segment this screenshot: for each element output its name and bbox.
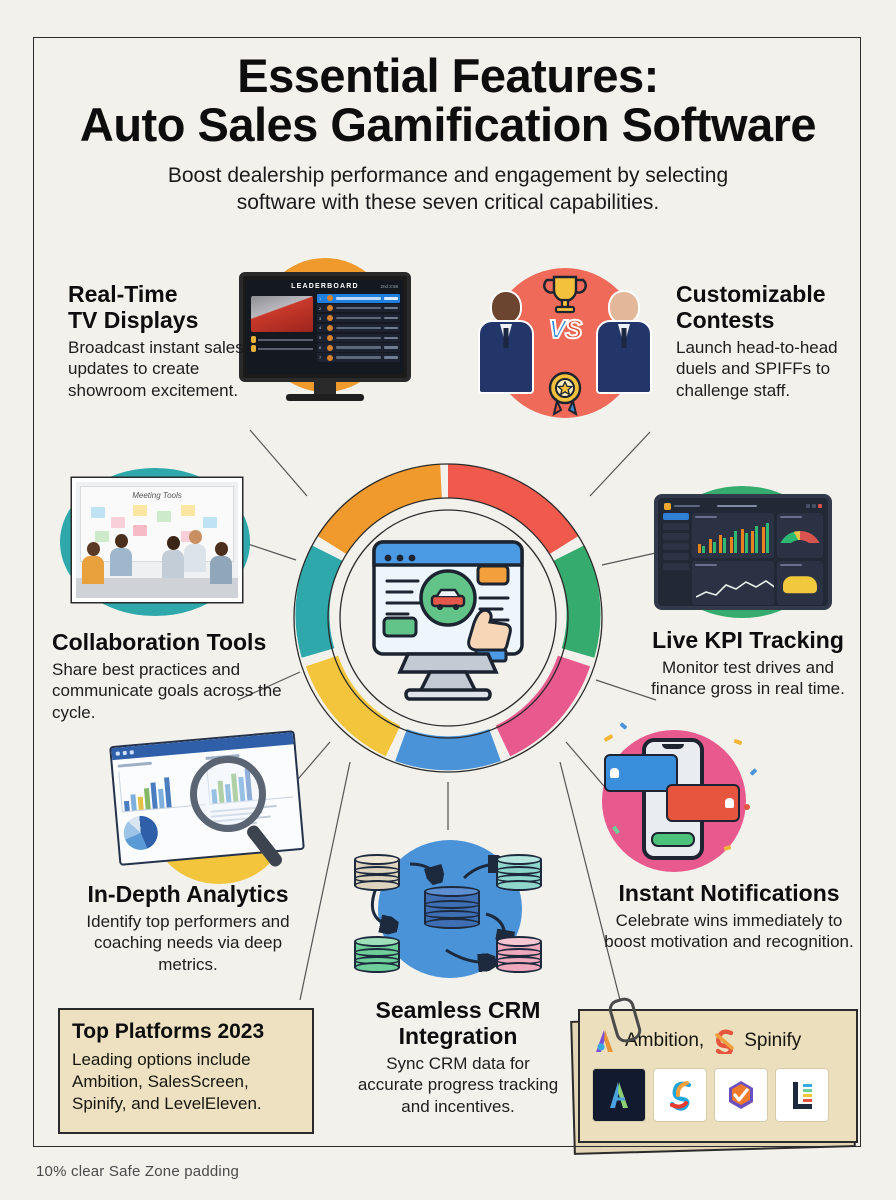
card-body-line3: Spinify, and LevelEleven. <box>72 1093 300 1115</box>
illustration-head-to-head-contest: VS <box>474 258 656 433</box>
feature-title: In-Depth Analytics <box>62 881 314 907</box>
subtitle-line1: Boost dealership performance and engagem… <box>0 162 896 190</box>
tv-car-photo <box>251 296 313 332</box>
contest-competitor-right <box>596 290 652 400</box>
feature-in-depth-analytics: In-Depth Analytics Identify top performe… <box>62 881 314 975</box>
logo-tile-row <box>592 1068 844 1122</box>
top-platforms-card: Top Platforms 2023 Leading options inclu… <box>58 1008 314 1134</box>
capability-ring <box>288 458 608 778</box>
platform-logos-card: Ambition, Spinify <box>578 1009 858 1143</box>
illustration-team-whiteboard: Meeting Tools <box>58 462 254 622</box>
safe-zone-note: 10% clear Safe Zone padding <box>36 1163 239 1180</box>
feature-description: Broadcast instant sales updates to creat… <box>68 337 258 401</box>
feature-title-line2: TV Displays <box>68 307 258 333</box>
ambition-logo-icon <box>592 1028 618 1054</box>
tv-leaderboard-title: LEADERBOARD <box>291 283 359 290</box>
feature-description: Monitor test drives and finance gross in… <box>640 657 856 700</box>
feature-live-kpi-tracking: Live KPI Tracking Monitor test drives an… <box>640 627 856 700</box>
illustration-crm-database-hub <box>336 826 564 992</box>
card-body-line1: Leading options include <box>72 1049 300 1071</box>
card-body-line2: Ambition, SalesScreen, <box>72 1071 300 1093</box>
header: Essential Features: Auto Sales Gamificat… <box>0 52 896 217</box>
whiteboard-title: Meeting Tools <box>132 491 182 500</box>
versus-s-glyph: S <box>565 314 581 344</box>
feature-real-time-tv-displays: Real-Time TV Displays Broadcast instant … <box>68 281 258 401</box>
kpi-line-chart <box>692 561 774 606</box>
kpi-gauge <box>777 513 823 558</box>
feature-instant-notifications: Instant Notifications Celebrate wins imm… <box>600 880 858 953</box>
feature-description: Celebrate wins immediately to boost moti… <box>600 910 858 953</box>
bell-icon <box>610 768 619 778</box>
tv-leaderboard-rows: 1 2 3 4 5 6 7 <box>317 294 400 363</box>
spinify-logo-icon <box>711 1028 737 1054</box>
page-title-line1: Essential Features: <box>0 52 896 101</box>
logo-tile-leveleleven <box>775 1068 829 1122</box>
feature-seamless-crm-integration: Seamless CRM Integration Sync CRM data f… <box>352 997 564 1117</box>
magnifier-icon <box>190 756 266 832</box>
feature-collaboration-tools: Collaboration Tools Share best practices… <box>52 629 322 723</box>
logo-tile-spinify <box>714 1068 768 1122</box>
logo-tile-ambition <box>592 1068 646 1122</box>
monitor-car-search-icon <box>374 542 522 699</box>
database-node-beige <box>354 854 400 892</box>
feature-title: Collaboration Tools <box>52 629 322 655</box>
feature-title-line1: Real-Time <box>68 281 258 307</box>
bell-icon <box>725 798 734 808</box>
feature-title-line2: Integration <box>352 1023 564 1049</box>
card-title: Top Platforms 2023 <box>72 1020 300 1044</box>
notification-bubble-red <box>666 784 740 822</box>
feature-description: Launch head-to-head duels and SPIFFs to … <box>676 337 856 401</box>
database-node-pink <box>496 936 542 974</box>
contest-competitor-left <box>478 290 534 400</box>
illustration-phone-notifications <box>594 718 770 880</box>
feature-title-line1: Seamless CRM <box>352 997 564 1023</box>
database-node-teal <box>496 854 542 892</box>
trophy-icon <box>542 274 588 314</box>
feature-title: Live KPI Tracking <box>640 627 856 653</box>
kpi-bar-chart <box>692 513 774 558</box>
feature-description: Share best practices and communicate goa… <box>52 659 322 723</box>
subtitle-line2: software with these seven critical capab… <box>0 189 896 217</box>
illustration-tv-leaderboard: LEADERBOARD 2nd 3:58 1 2 3 4 5 6 7 <box>234 258 416 426</box>
database-node-green <box>354 936 400 974</box>
feature-title: Instant Notifications <box>600 880 858 906</box>
feature-title-line2: Contests <box>676 307 856 333</box>
page-title-line2: Auto Sales Gamification Software <box>0 101 896 150</box>
kpi-vehicle-card <box>777 561 823 606</box>
award-ribbon-icon <box>545 370 585 416</box>
versus-v-glyph: V <box>549 314 565 344</box>
feature-description: Sync CRM data for accurate progress trac… <box>352 1053 564 1117</box>
feature-title-line1: Customizable <box>676 281 856 307</box>
feature-description: Identify top performers and coaching nee… <box>62 911 314 975</box>
feature-customizable-contests: Customizable Contests Launch head-to-hea… <box>676 281 856 401</box>
illustration-kpi-dashboard <box>648 486 838 622</box>
tv-clock: 2nd 3:58 <box>380 284 398 289</box>
brand-name-spinify: Spinify <box>744 1030 801 1052</box>
illustration-analytics-magnifier <box>112 734 322 890</box>
database-node-primary <box>424 886 480 934</box>
logo-tile-salesscreen <box>653 1068 707 1122</box>
